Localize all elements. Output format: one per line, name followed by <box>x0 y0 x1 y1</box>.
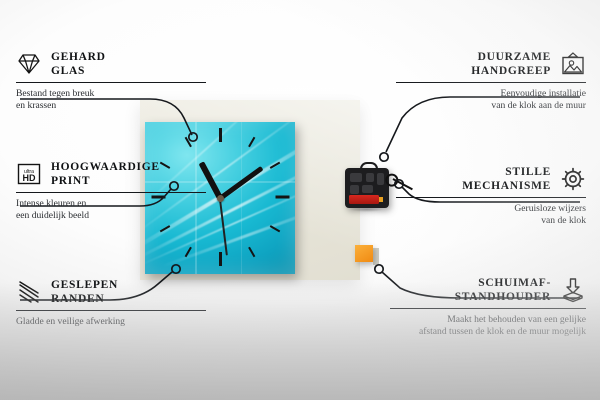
feature-header: STILLE MECHANISME <box>396 165 586 193</box>
battery <box>349 195 379 204</box>
clock-tick <box>219 252 222 266</box>
gear-icon <box>560 166 586 192</box>
feature-desc-line1: Maakt het behouden van een gelijke <box>390 314 586 326</box>
feature-desc-line2: afstand tussen de klok en de muur mogeli… <box>390 326 586 338</box>
feature-geslepen-randen[interactable]: GESLEPEN RANDEN Gladde en veilige afwerk… <box>16 278 206 328</box>
feature-description: Bestand tegen breuk en krassen <box>16 88 206 112</box>
feature-title-line2: PRINT <box>51 174 160 188</box>
feature-title-line1: GESLEPEN <box>51 278 118 292</box>
mechanism-detail <box>362 185 373 193</box>
feature-title-line1: GEHARD <box>51 50 106 64</box>
feature-header: GEHARD GLAS <box>16 50 206 78</box>
clock-mechanism <box>345 168 389 208</box>
feature-title-line1: SCHUIMAF- <box>455 276 551 290</box>
hanging-hook-icon <box>360 162 378 172</box>
clock-tick <box>219 128 222 142</box>
mechanism-detail <box>377 173 384 185</box>
feature-gehard-glas[interactable]: GEHARD GLAS Bestand tegen breuk en krass… <box>16 50 206 112</box>
feature-title: DUURZAME HANDGREEP <box>471 50 551 78</box>
feature-description: Intense kleuren en een duidelijk beeld <box>16 198 206 222</box>
feature-duurzame-handgreep[interactable]: DUURZAME HANDGREEP Eenvoudige installati… <box>396 50 586 112</box>
feature-description: Geruisloze wijzers van de klok <box>396 203 586 227</box>
diamond-icon <box>16 51 42 77</box>
diagonal-lines-icon <box>16 279 42 305</box>
press-down-pad-icon <box>560 277 586 303</box>
feature-title-line2: GLAS <box>51 64 106 78</box>
feature-title: HOOGWAARDIGE PRINT <box>51 160 160 188</box>
ultra-hd-icon: ultra HD <box>16 161 42 187</box>
svg-text:HD: HD <box>23 173 36 183</box>
feature-schuimafstandhouder[interactable]: SCHUIMAF- STANDHOUDER Maakt het behouden… <box>390 276 586 338</box>
glass-reflection-line <box>241 122 242 274</box>
leader-dot-handgreep <box>380 153 388 161</box>
clock-tick <box>276 196 290 199</box>
mechanism-detail <box>350 185 359 194</box>
feature-header: GESLEPEN RANDEN <box>16 278 206 306</box>
feature-desc-line1: Intense kleuren en <box>16 198 206 210</box>
feature-desc-line2: en krassen <box>16 100 206 112</box>
feature-desc-line1: Gladde en veilige afwerking <box>16 316 206 328</box>
clock-tick <box>185 137 192 148</box>
feature-title: GESLEPEN RANDEN <box>51 278 118 306</box>
feature-title-line1: DUURZAME <box>471 50 551 64</box>
feature-title-line2: STANDHOUDER <box>455 290 551 304</box>
feature-title-line2: MECHANISME <box>462 179 551 193</box>
feature-desc-line1: Bestand tegen breuk <box>16 88 206 100</box>
feature-desc-line2: een duidelijk beeld <box>16 210 206 222</box>
mechanism-detail <box>350 173 362 182</box>
foam-spacer <box>355 245 373 262</box>
foam-spacer-shadow <box>373 248 379 265</box>
feature-description: Gladde en veilige afwerking <box>16 316 206 328</box>
feature-divider <box>396 197 586 198</box>
feature-description: Eenvoudige installatie van de klok aan d… <box>396 88 586 112</box>
feature-title-line1: STILLE <box>462 165 551 179</box>
feature-desc-line1: Geruisloze wijzers <box>396 203 586 215</box>
feature-title: SCHUIMAF- STANDHOUDER <box>455 276 551 304</box>
feature-header: SCHUIMAF- STANDHOUDER <box>390 276 586 304</box>
feature-header: ultra HD HOOGWAARDIGE PRINT <box>16 160 206 188</box>
feature-stille-mechanisme[interactable]: STILLE MECHANISME Geruisloze wijzers van… <box>396 165 586 227</box>
feature-desc-line2: van de klok aan de muur <box>396 100 586 112</box>
feature-divider <box>16 192 206 193</box>
feature-title-line2: RANDEN <box>51 292 118 306</box>
leader-dot-foam <box>375 265 383 273</box>
feature-divider <box>396 82 586 83</box>
feature-header: DUURZAME HANDGREEP <box>396 50 586 78</box>
feature-title: STILLE MECHANISME <box>462 165 551 193</box>
feature-divider <box>16 310 206 311</box>
feature-divider <box>390 308 586 309</box>
feature-desc-line2: van de klok <box>396 215 586 227</box>
infographic-stage: GEHARD GLAS Bestand tegen breuk en krass… <box>0 0 600 400</box>
feature-title-line1: HOOGWAARDIGE <box>51 160 160 174</box>
feature-desc-line1: Eenvoudige installatie <box>396 88 586 100</box>
framed-picture-icon <box>560 51 586 77</box>
hand-center-cap <box>217 195 224 202</box>
feature-hoogwaardige-print[interactable]: ultra HD HOOGWAARDIGE PRINT Intense kleu… <box>16 160 206 222</box>
clock-tick <box>248 247 255 258</box>
feature-description: Maakt het behouden van een gelijke afsta… <box>390 314 586 338</box>
feature-divider <box>16 82 206 83</box>
feature-title: GEHARD GLAS <box>51 50 106 78</box>
feature-title-line2: HANDGREEP <box>471 64 551 78</box>
mechanism-detail <box>366 173 374 182</box>
